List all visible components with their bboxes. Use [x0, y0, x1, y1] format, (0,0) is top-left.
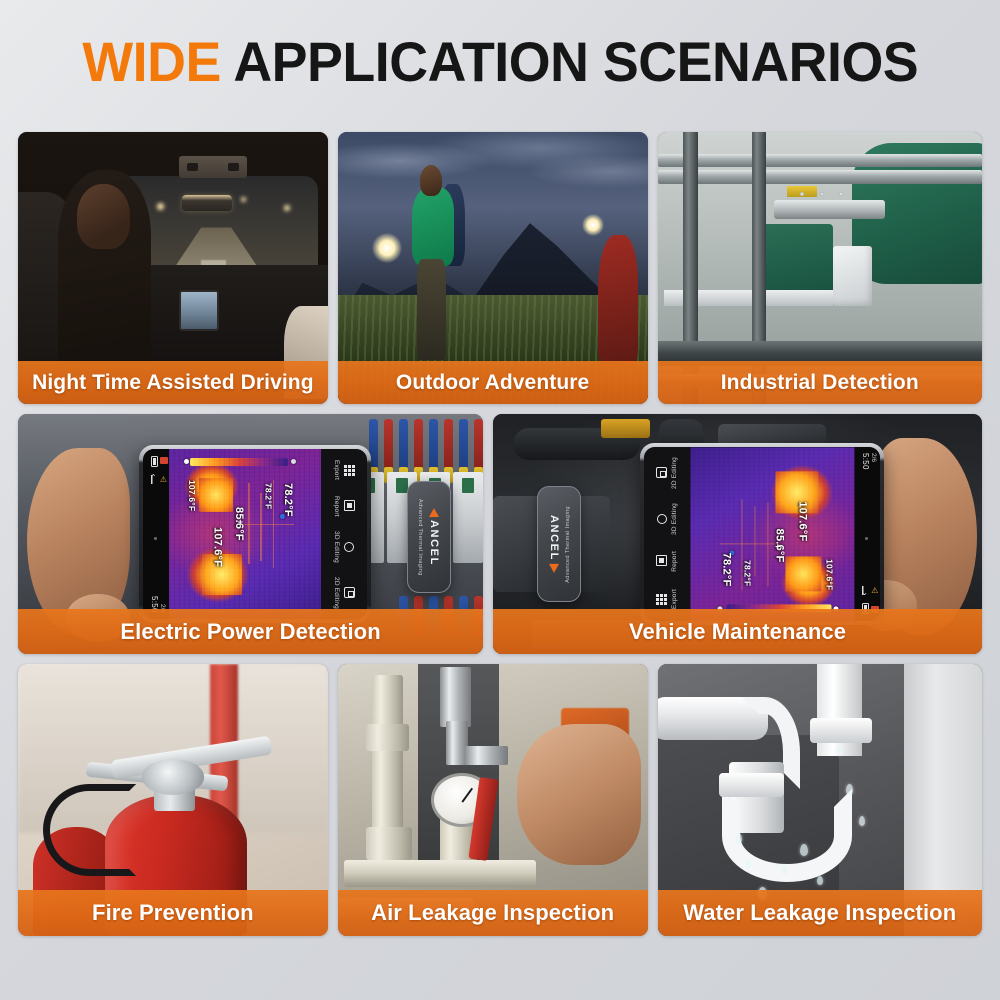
tool-label: 2D Editing — [333, 577, 340, 609]
panel-caption: Vehicle Maintenance — [493, 609, 982, 654]
panel-caption: Outdoor Adventure — [338, 361, 648, 404]
water-drop — [745, 860, 751, 869]
white-pipe-vertical — [372, 675, 403, 838]
temp-reading-mid: 85.6°F — [773, 528, 785, 562]
overhead-console — [179, 156, 247, 178]
panel-caption: Industrial Detection — [658, 361, 983, 404]
scenario-row-1: Night Time Assisted Driving Outdoor Adv — [18, 132, 982, 404]
rearview-mirror — [182, 195, 232, 211]
temp-reading-cool-2: 78.2°F — [721, 553, 733, 587]
scenario-row-3: Fire Prevention Air Leakage Inspection — [18, 664, 982, 936]
tool-label: 2D Editing — [671, 457, 678, 489]
panel-water-leakage[interactable]: Water Leakage Inspection — [658, 664, 983, 936]
hiker-jacket — [412, 188, 454, 266]
hiker-legs — [417, 259, 446, 361]
panel-caption: Fire Prevention — [18, 890, 328, 936]
ancel-tagline: Advanced Thermal Imaging — [417, 499, 423, 576]
record-icon — [160, 457, 168, 464]
temp-reading-cool-2: 78.2°F — [282, 483, 294, 517]
ancel-brand: ANCEL — [548, 515, 560, 561]
temp-reading-scale: 107.6°F — [825, 559, 835, 590]
temp-reading-scale: 107.6°F — [187, 480, 197, 511]
report-icon — [655, 554, 668, 567]
cool-spot-marker — [729, 550, 734, 555]
camera-dot-icon — [865, 537, 868, 540]
arm-bolt-icon — [820, 192, 824, 196]
chrome-elbow — [465, 746, 508, 765]
status-time: 5:50 — [861, 453, 870, 470]
temp-reading-cool: 78.2°F — [264, 483, 274, 509]
extinguisher-valve — [142, 759, 204, 794]
title-rest: APPLICATION SCENARIOS — [233, 30, 918, 93]
tool-2d-editing[interactable]: 2D Editing — [644, 457, 690, 489]
hiker-secondary — [598, 235, 638, 366]
temperature-color-bar — [190, 458, 288, 466]
tool-label: 3D Editing — [671, 503, 678, 535]
status-page: 2/6 — [870, 453, 877, 462]
thermal-image[interactable]: 107.6°F 107.6°F 85.6°F 78.2°F 78.2°F + — [690, 447, 854, 621]
tool-label: Report — [671, 551, 678, 572]
tool-3d-editing[interactable]: 3D Editing — [321, 531, 367, 563]
ancel-logo: ANCEL — [428, 508, 440, 566]
gear-icon — [655, 512, 668, 525]
panel-fire-prevention[interactable]: Fire Prevention — [18, 664, 328, 936]
slip-nut — [810, 718, 872, 742]
tool-export[interactable]: Export — [321, 459, 367, 481]
ancel-device-badge: Advanced Thermal Imaging ANCEL — [407, 481, 451, 593]
cube-icon — [343, 586, 356, 599]
tool-label: 3D Editing — [333, 531, 340, 563]
chrome-cylinder — [440, 667, 471, 727]
ancel-device-badge: ANCEL Advanced Thermal Imaging — [537, 486, 581, 602]
panel-caption: Electric Power Detection — [18, 609, 483, 654]
water-drop — [846, 784, 853, 795]
control-box — [833, 246, 872, 306]
pipe-collar — [366, 827, 412, 860]
panel-industrial-detection[interactable]: Industrial Detection — [658, 132, 983, 404]
panel-caption: Water Leakage Inspection — [658, 890, 983, 936]
cool-spot-marker — [280, 514, 285, 519]
hot-chip-upper — [785, 557, 821, 592]
phone-status-bar: ⌃ ⚠ 5:50 2/6 — [143, 449, 169, 619]
headlamp-icon — [582, 214, 604, 236]
arm-bolt-icon — [839, 192, 843, 196]
water-drop — [817, 876, 823, 885]
tool-label: Report — [333, 496, 340, 517]
report-icon — [343, 499, 356, 512]
panel-caption: Night Time Assisted Driving — [18, 361, 328, 404]
panel-outdoor-adventure[interactable]: Outdoor Adventure — [338, 132, 648, 404]
dipstick-handle — [601, 419, 650, 438]
scale-min-marker — [184, 459, 189, 464]
tool-report[interactable]: Report — [644, 549, 690, 573]
phone-toolbar: 2D Editing 3D Editing Report — [644, 447, 690, 621]
scale-max-marker — [291, 459, 296, 464]
tool-2d-editing[interactable]: 2D Editing — [321, 577, 367, 609]
title-accent-word: WIDE — [82, 30, 220, 93]
panel-caption: Air Leakage Inspection — [338, 890, 648, 936]
gear-icon — [343, 540, 356, 553]
hot-chip-lower — [202, 554, 242, 595]
hiker-head — [420, 165, 442, 196]
technician-hand — [517, 724, 641, 865]
phone-toolbar: Export Report 3D Editing — [321, 449, 367, 619]
alert-icon: ⚠ — [160, 475, 167, 484]
cube-icon — [655, 466, 668, 479]
ancel-triangle-icon — [549, 564, 559, 573]
overhead-rail — [658, 154, 983, 168]
headlamp-icon — [372, 233, 402, 263]
battery-icon — [151, 456, 158, 467]
panel-air-leakage[interactable]: Air Leakage Inspection — [338, 664, 648, 936]
tool-label: Export — [333, 460, 340, 480]
panel-night-driving[interactable]: Night Time Assisted Driving — [18, 132, 328, 404]
panel-vehicle-maintenance[interactable]: ⌄ ⚠ 5:50 2/6 — [493, 414, 982, 654]
tool-export[interactable]: Export — [644, 587, 690, 611]
water-drop — [836, 746, 842, 755]
extinguisher-hose — [43, 784, 136, 876]
hot-chip-lower — [775, 471, 818, 513]
overhead-rail — [658, 170, 983, 184]
hiker-primary — [400, 165, 468, 361]
thermal-phone[interactable]: ⌃ ⚠ 5:50 2/6 — [139, 445, 372, 623]
grid-icon — [343, 464, 356, 477]
camera-dot-icon — [154, 537, 157, 540]
signal-icon — [862, 586, 870, 595]
page-title: WIDE APPLICATION SCENARIOS — [0, 0, 1000, 122]
scenario-grid: Night Time Assisted Driving Outdoor Adv — [18, 132, 982, 936]
ancel-tagline: Advanced Thermal Imaging — [565, 506, 571, 583]
grid-icon — [655, 593, 668, 606]
temp-reading-cool: 78.2°F — [742, 560, 752, 586]
tool-report[interactable]: Report — [321, 495, 367, 517]
hot-chip-upper — [199, 478, 233, 512]
tool-3d-editing[interactable]: 3D Editing — [644, 503, 690, 535]
tool-label: Export — [671, 589, 678, 609]
hand-holding-phone — [27, 448, 129, 635]
ancel-brand: ANCEL — [428, 520, 440, 566]
alert-icon: ⚠ — [871, 586, 878, 595]
ancel-triangle-icon — [429, 508, 439, 517]
circuit-breaker — [453, 472, 483, 563]
ancel-logo: ANCEL — [548, 515, 560, 573]
signal-icon — [151, 475, 159, 484]
panel-electric-power[interactable]: ⌃ ⚠ 5:50 2/6 — [18, 414, 483, 654]
phone-status-bar: ⌄ ⚠ 5:50 2/6 — [854, 447, 880, 621]
temp-reading-hot: 107.6°F — [796, 501, 808, 541]
white-pipe-horizontal — [344, 860, 536, 887]
thermal-image[interactable]: 107.6°F 107.6°F 85.6°F 78.2°F 78.2°F + — [169, 449, 322, 619]
thermal-phone[interactable]: ⌄ ⚠ 5:50 2/6 — [640, 443, 884, 625]
scenario-row-2: ⌃ ⚠ 5:50 2/6 — [18, 414, 982, 654]
driver-head — [77, 184, 130, 249]
pipe-collar — [366, 724, 409, 751]
slip-nut — [719, 773, 784, 797]
infotainment-screen — [179, 290, 219, 331]
gantry-arm — [774, 200, 884, 219]
water-drop — [859, 816, 865, 826]
temp-reading-mid: 85.6°F — [233, 507, 245, 541]
water-drop — [781, 865, 788, 875]
temp-reading-hot: 107.6°F — [212, 527, 224, 567]
hand-holding-phone — [870, 438, 978, 635]
